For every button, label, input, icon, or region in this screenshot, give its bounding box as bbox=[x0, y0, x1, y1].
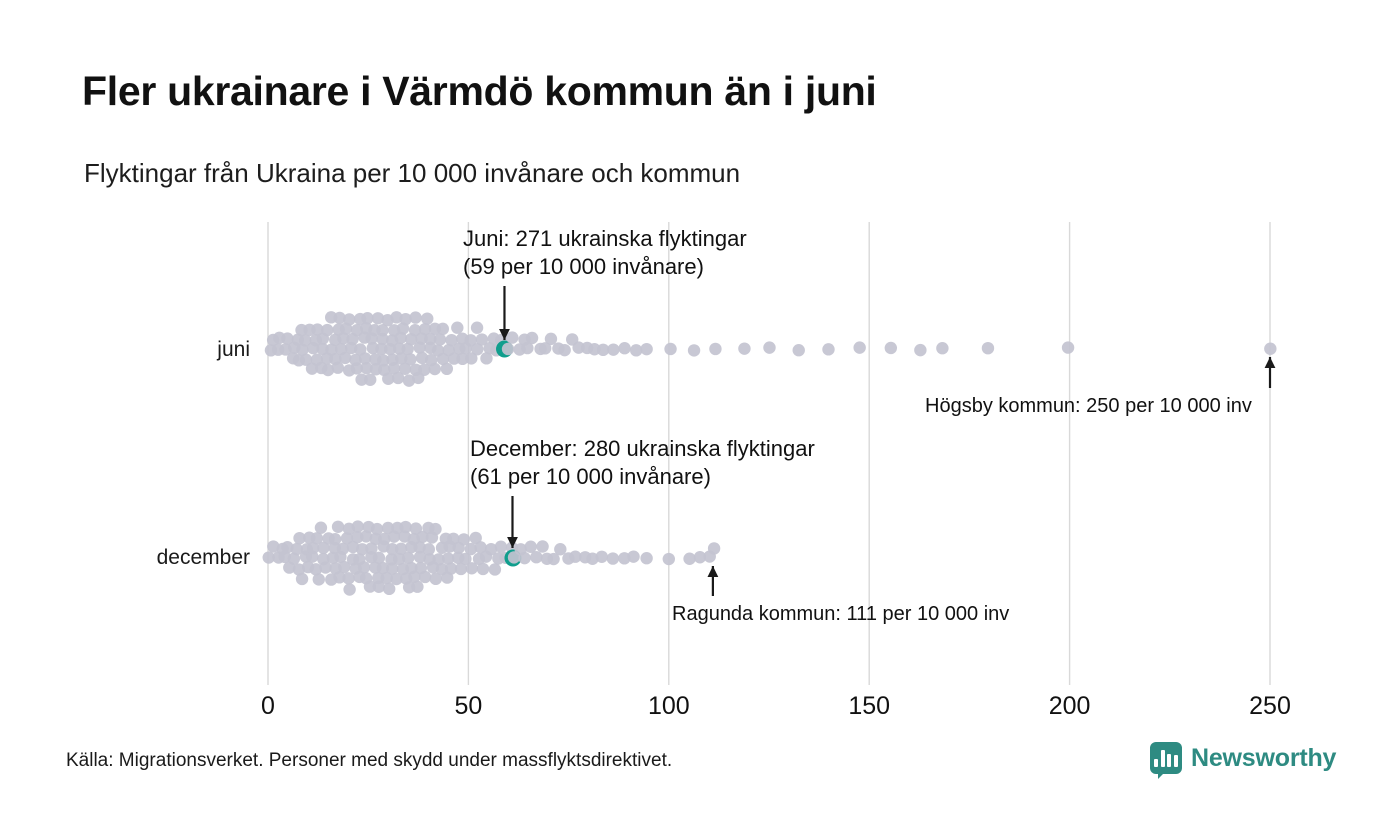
data-dot bbox=[441, 363, 453, 375]
data-dot bbox=[404, 353, 416, 365]
data-dot bbox=[640, 343, 652, 355]
bar-chart-bubble-icon bbox=[1150, 742, 1182, 774]
annotation-december-line1: December: 280 ukrainska flyktingar bbox=[470, 435, 815, 463]
data-dot bbox=[664, 343, 676, 355]
newsworthy-logo: Newsworthy bbox=[1150, 742, 1336, 774]
data-dot bbox=[411, 581, 423, 593]
data-dot bbox=[489, 563, 501, 575]
data-dot bbox=[663, 553, 675, 565]
data-dot bbox=[853, 341, 865, 353]
data-dot bbox=[936, 342, 948, 354]
data-dot bbox=[434, 333, 446, 345]
data-dot bbox=[558, 344, 570, 356]
data-dot bbox=[738, 342, 750, 354]
data-dot bbox=[343, 583, 355, 595]
data-dot bbox=[708, 542, 720, 554]
data-dot bbox=[885, 342, 897, 354]
data-dot bbox=[471, 322, 483, 334]
logo-bar-2 bbox=[1161, 750, 1165, 767]
data-dot bbox=[437, 323, 449, 335]
data-dot bbox=[1264, 343, 1276, 355]
logo-bar-3 bbox=[1167, 754, 1171, 767]
arrow-december-highlight bbox=[507, 496, 518, 548]
data-dot bbox=[688, 344, 700, 356]
data-dot bbox=[502, 343, 514, 355]
data-dot bbox=[358, 561, 370, 573]
data-dot bbox=[518, 552, 530, 564]
swarm-december bbox=[263, 520, 721, 595]
data-dot bbox=[332, 361, 344, 373]
annotation-juni-line2: (59 per 10 000 invånare) bbox=[463, 253, 747, 281]
data-dot bbox=[683, 553, 695, 565]
data-dot bbox=[709, 343, 721, 355]
data-dot bbox=[914, 344, 926, 356]
data-dot bbox=[526, 332, 538, 344]
logo-bar-1 bbox=[1154, 759, 1158, 767]
annotation-december: December: 280 ukrainska flyktingar (61 p… bbox=[470, 435, 815, 491]
data-dot bbox=[352, 520, 364, 532]
arrow-juni-highlight bbox=[499, 286, 510, 340]
annotation-december-line2: (61 per 10 000 invånare) bbox=[470, 463, 815, 491]
data-dot bbox=[343, 313, 355, 325]
x-tick-label: 250 bbox=[1249, 692, 1291, 721]
plot-area bbox=[0, 0, 1400, 840]
data-dot bbox=[429, 523, 441, 535]
data-dot bbox=[530, 551, 542, 563]
data-dot bbox=[536, 540, 548, 552]
x-tick-label: 50 bbox=[454, 692, 482, 721]
annotation-juni: Juni: 271 ukrainska flyktingar (59 per 1… bbox=[463, 225, 747, 281]
data-dot bbox=[419, 571, 431, 583]
x-tick-label: 150 bbox=[848, 692, 890, 721]
data-dot bbox=[554, 543, 566, 555]
data-dot bbox=[429, 363, 441, 375]
chart-container: Fler ukrainare i Värmdö kommun än i juni… bbox=[0, 0, 1400, 840]
data-dot bbox=[495, 541, 507, 553]
data-dot bbox=[451, 322, 463, 334]
data-dot bbox=[329, 533, 341, 545]
data-dot bbox=[332, 521, 344, 533]
data-dot bbox=[627, 550, 639, 562]
data-dot bbox=[822, 343, 834, 355]
axis-label-juni: juni bbox=[217, 338, 250, 362]
data-dot bbox=[364, 374, 376, 386]
data-dot bbox=[383, 583, 395, 595]
annotation-juni-line1: Juni: 271 ukrainska flyktingar bbox=[463, 225, 747, 253]
data-dot bbox=[371, 523, 383, 535]
data-dot bbox=[409, 311, 421, 323]
source-note: Källa: Migrationsverket. Personer med sk… bbox=[66, 750, 672, 772]
data-dot bbox=[315, 522, 327, 534]
data-dot bbox=[618, 342, 630, 354]
data-dot bbox=[607, 552, 619, 564]
data-dot bbox=[296, 573, 308, 585]
data-dot bbox=[421, 312, 433, 324]
beeswarm-svg bbox=[0, 0, 1400, 840]
arrow-ragunda bbox=[707, 566, 718, 596]
data-dot bbox=[982, 342, 994, 354]
swarm-juni bbox=[265, 311, 1277, 387]
data-dot bbox=[640, 552, 652, 564]
data-dot bbox=[313, 573, 325, 585]
annotation-ragunda: Ragunda kommun: 111 per 10 000 inv bbox=[672, 600, 1009, 628]
annotation-hogsby: Högsby kommun: 250 per 10 000 inv bbox=[925, 392, 1252, 420]
data-dot bbox=[423, 543, 435, 555]
data-dot bbox=[1062, 341, 1074, 353]
data-dot bbox=[607, 343, 619, 355]
data-dot bbox=[506, 331, 518, 343]
data-dot bbox=[321, 324, 333, 336]
data-dot bbox=[763, 341, 775, 353]
x-tick-label: 100 bbox=[648, 692, 690, 721]
axis-label-december: december bbox=[157, 546, 250, 570]
data-dot bbox=[793, 344, 805, 356]
data-dot bbox=[525, 541, 537, 553]
data-dot bbox=[596, 551, 608, 563]
x-tick-label: 0 bbox=[261, 692, 275, 721]
arrow-hogsby bbox=[1265, 357, 1276, 388]
logo-accent-mark bbox=[1174, 755, 1178, 767]
x-tick-label: 200 bbox=[1049, 692, 1091, 721]
data-dot bbox=[477, 563, 489, 575]
logo-wordmark: Newsworthy bbox=[1191, 744, 1336, 773]
